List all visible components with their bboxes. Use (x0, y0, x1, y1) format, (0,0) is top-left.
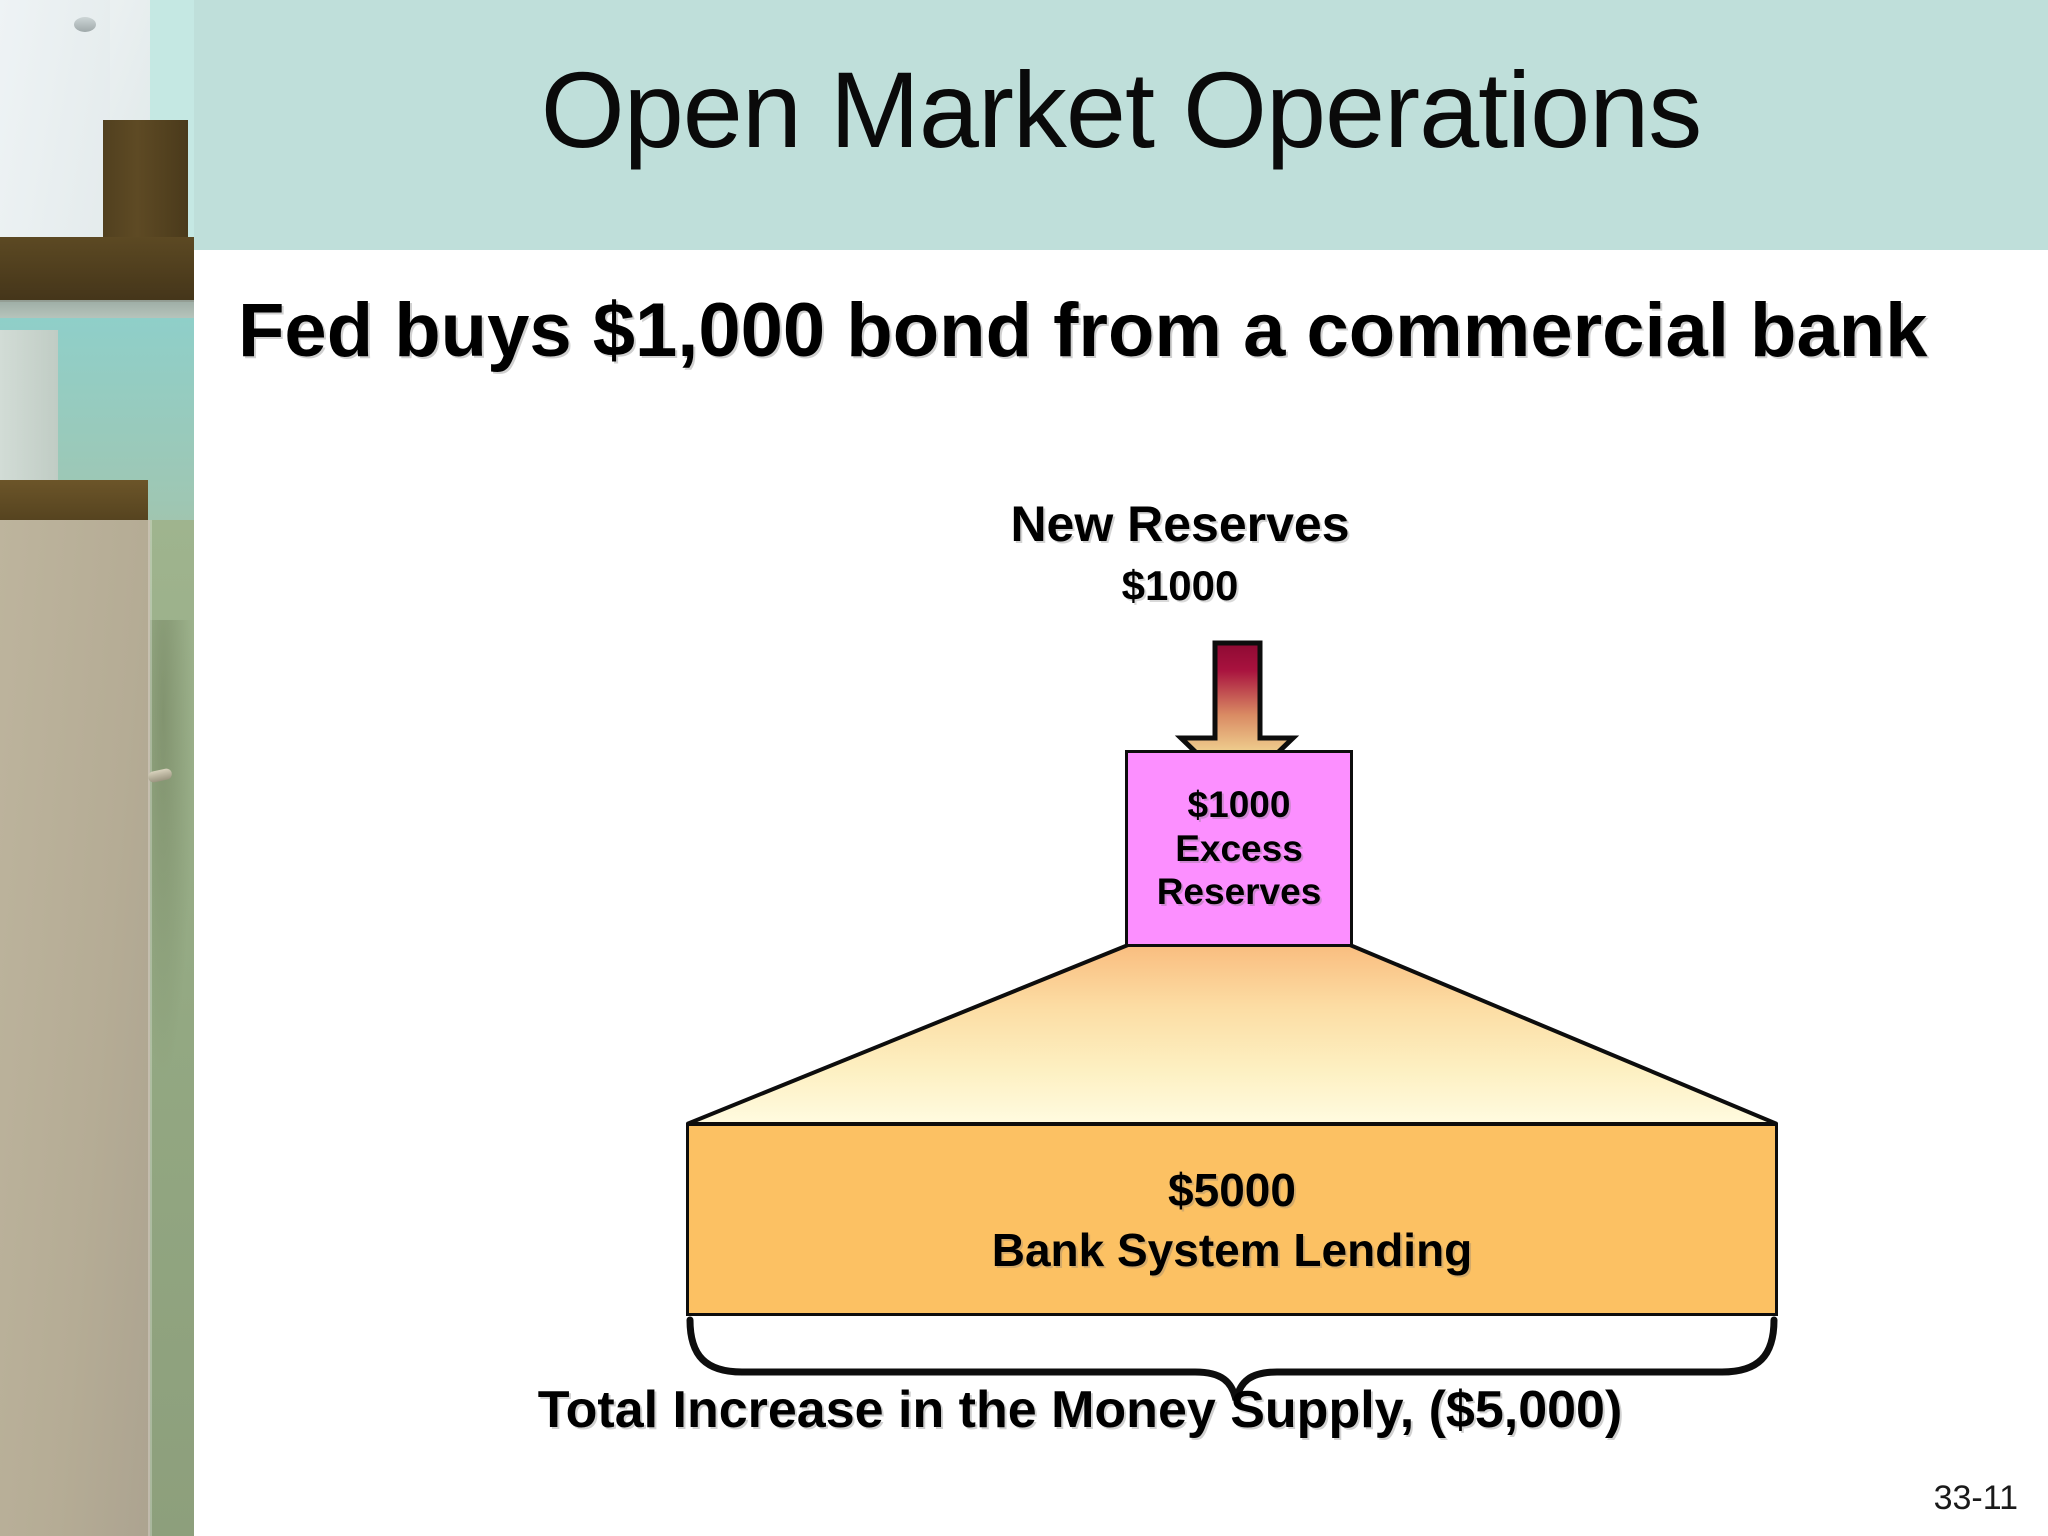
diagram-labels: New Reserves $1000 $1000 Excess Reserves… (0, 0, 2048, 1536)
lending-amount: $5000 (1168, 1163, 1296, 1217)
page-number: 33-11 (1934, 1479, 2018, 1518)
new-reserves-amount: $1000 (880, 562, 1480, 610)
excess-reserves-box: $1000 Excess Reserves (1125, 750, 1353, 947)
slide-canvas: Open Market Operations Fed buys $1,000 b… (0, 0, 2048, 1536)
excess-reserves-line3: Reserves (1157, 872, 1322, 912)
bank-system-lending-bar: $5000 Bank System Lending (686, 1123, 1778, 1316)
new-reserves-label: New Reserves (880, 495, 1480, 553)
total-increase-caption: Total Increase in the Money Supply, ($5,… (380, 1380, 1780, 1440)
excess-reserves-amount: $1000 (1188, 785, 1291, 825)
excess-reserves-line2: Excess (1175, 829, 1303, 869)
lending-label: Bank System Lending (992, 1223, 1473, 1277)
